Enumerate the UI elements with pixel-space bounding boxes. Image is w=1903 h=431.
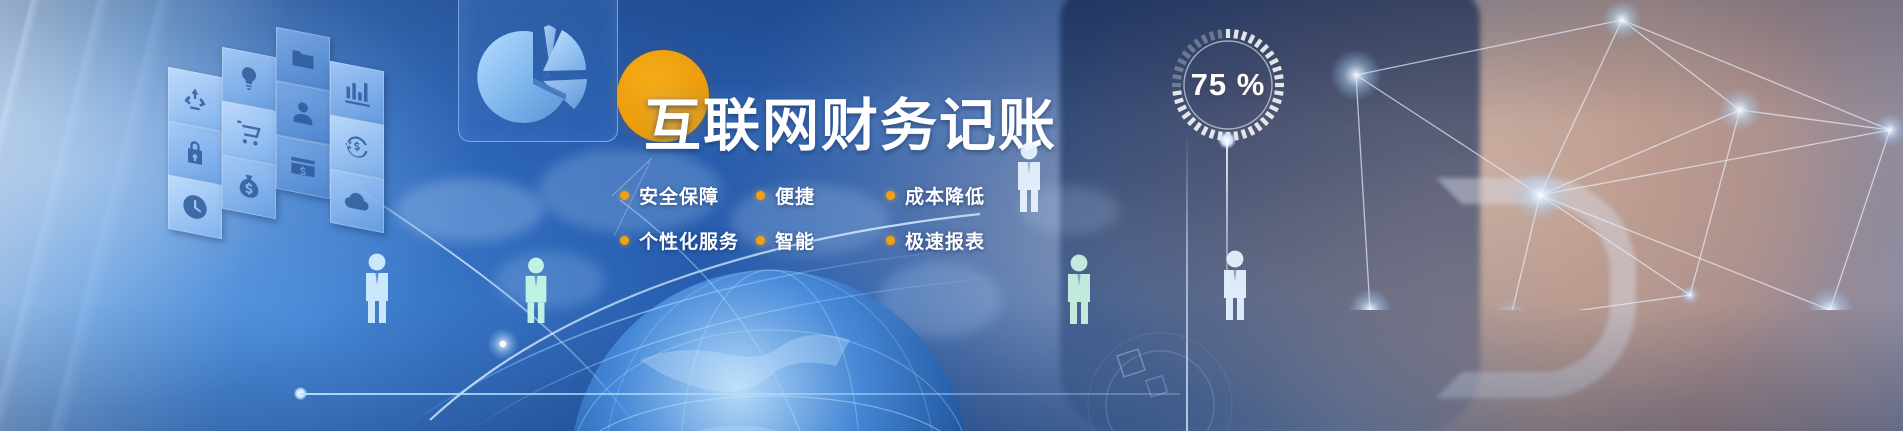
feature-row-1: 安全保障 便捷 成本降低	[620, 182, 1020, 209]
bullet-dot-icon	[756, 191, 765, 200]
pie-chart	[474, 2, 604, 130]
vertical-divider-line	[1186, 131, 1188, 431]
feature-row-2: 个性化服务 智能 极速报表	[620, 227, 1020, 254]
person-figure-5	[1218, 248, 1252, 322]
bullet-dot-icon	[886, 236, 895, 245]
page-title: 互联网财务记账	[644, 98, 1057, 155]
feature-item-3[interactable]: 个性化服务	[620, 227, 756, 254]
icon-cube-cluster	[168, 6, 418, 221]
bullet-dot-icon	[886, 191, 895, 200]
feature-item-5[interactable]: 极速报表	[886, 227, 985, 254]
feature-item-2[interactable]: 成本降低	[886, 182, 985, 209]
bullet-dot-icon	[756, 236, 765, 245]
person-figure-3	[1012, 140, 1046, 214]
feature-list: 安全保障 便捷 成本降低 个性化服务 智能 极速报表	[620, 182, 1020, 272]
bullet-dot-icon	[620, 191, 629, 200]
money-bag-icon	[222, 155, 276, 219]
feature-item-0[interactable]: 安全保障	[620, 182, 756, 209]
feature-label: 成本降低	[905, 182, 985, 209]
cloud-icon	[330, 169, 384, 233]
feature-item-4[interactable]: 智能	[756, 227, 886, 254]
person-figure-1	[360, 252, 394, 324]
feature-label: 个性化服务	[639, 227, 739, 254]
network-node-graph	[1270, 0, 1903, 310]
feature-label: 智能	[775, 227, 815, 254]
bullet-dot-icon	[620, 236, 629, 245]
credit-card-icon	[276, 135, 330, 199]
person-figure-4	[1062, 252, 1096, 326]
feature-label: 安全保障	[639, 182, 719, 209]
feature-label: 极速报表	[905, 227, 985, 254]
feature-label: 便捷	[775, 182, 815, 209]
person-figure-2	[520, 256, 552, 324]
feature-item-1[interactable]: 便捷	[756, 182, 886, 209]
clock-icon	[168, 175, 222, 239]
hud-baseline	[300, 393, 1180, 395]
hero-banner: 互联网财务记账 安全保障 便捷 成本降低 个性化服务 智能	[0, 0, 1903, 431]
